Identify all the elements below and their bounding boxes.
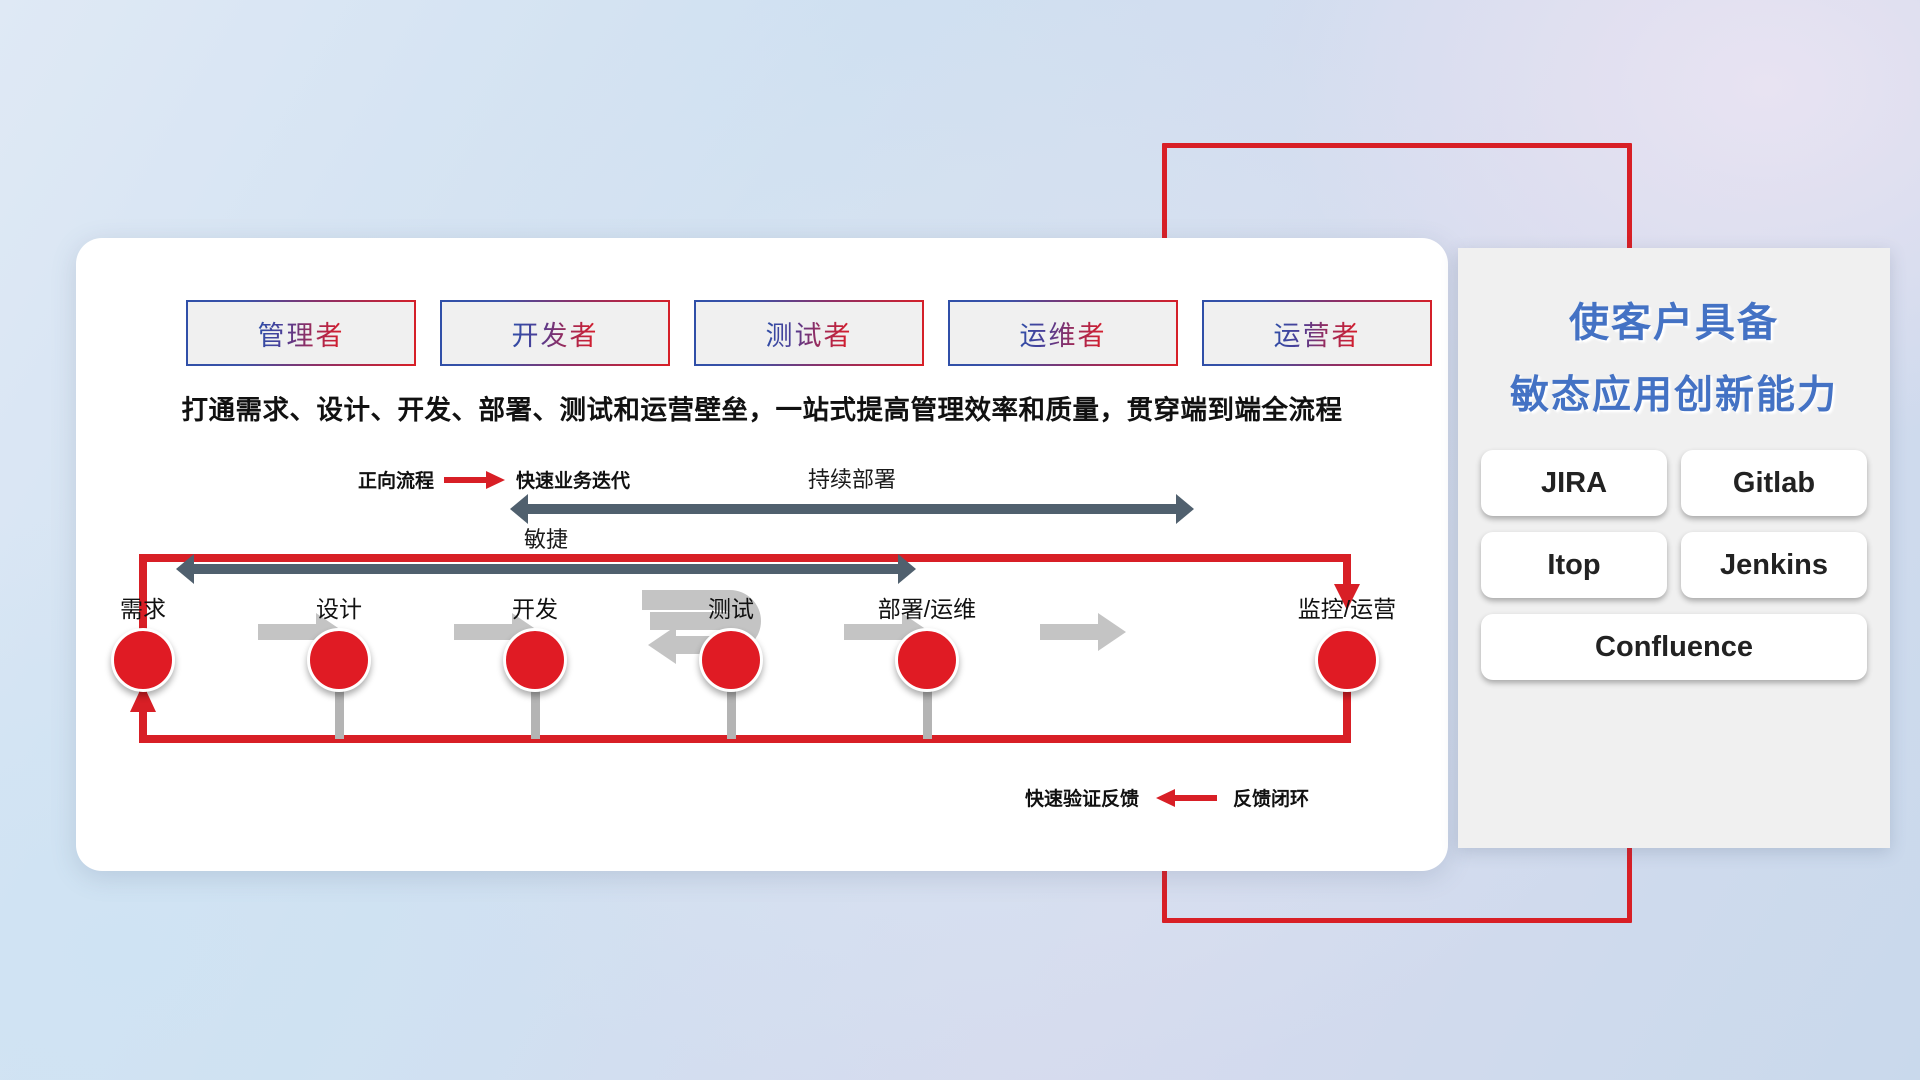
stage-development[interactable]: 开发	[460, 590, 610, 692]
role-box-ops[interactable]: 运维者	[948, 300, 1178, 366]
value-proposition-panel: 使客户具备 敏态应用创新能力 JIRA Gitlab Itop Jenkins …	[1458, 248, 1890, 848]
tool-chip-label: JIRA	[1541, 467, 1607, 500]
stage-node	[1315, 628, 1379, 692]
tool-chip-jira[interactable]: JIRA	[1481, 450, 1667, 516]
stage-requirements[interactable]: 需求	[68, 590, 218, 692]
tool-chip-label: Confluence	[1595, 631, 1753, 664]
stage-node	[503, 628, 567, 692]
stage-label: 部署/运维	[852, 590, 1002, 624]
tool-chip-list: JIRA Gitlab Itop Jenkins Confluence	[1458, 450, 1890, 680]
role-box-operations-inner: 运营者	[1204, 302, 1430, 364]
role-box-tester[interactable]: 测试者	[694, 300, 924, 366]
role-box-developer-inner: 开发者	[442, 302, 668, 364]
span-arrow-label-continuous-deploy: 持续部署	[510, 462, 1194, 494]
stage-label: 监控/运营	[1272, 590, 1422, 624]
stage-label: 开发	[460, 590, 610, 624]
stage-label: 测试	[656, 590, 806, 624]
tool-chip-jenkins[interactable]: Jenkins	[1681, 532, 1867, 598]
span-arrow-label-agile: 敏捷	[176, 522, 916, 554]
double-arrow-icon-continuous-deploy	[510, 494, 1194, 524]
role-box-row: 管理者 开发者 测试者 运维者 运营者	[186, 300, 1432, 366]
tool-chip-itop[interactable]: Itop	[1481, 532, 1667, 598]
role-label: 运维者	[1020, 314, 1107, 353]
stage-deploy-ops[interactable]: 部署/运维	[852, 590, 1002, 692]
tool-chip-confluence[interactable]: Confluence	[1481, 614, 1867, 680]
stage-node	[699, 628, 763, 692]
role-box-operations[interactable]: 运营者	[1202, 300, 1432, 366]
tool-chip-gitlab[interactable]: Gitlab	[1681, 450, 1867, 516]
role-box-tester-inner: 测试者	[696, 302, 922, 364]
main-content-card: 管理者 开发者 测试者 运维者 运营者	[76, 238, 1448, 871]
role-box-developer[interactable]: 开发者	[440, 300, 670, 366]
role-label: 开发者	[512, 314, 599, 353]
stage-label: 设计	[264, 590, 414, 624]
stage-label: 需求	[68, 590, 218, 624]
tool-chip-label: Gitlab	[1733, 467, 1815, 500]
panel-title-line1: 使客户具备	[1458, 290, 1890, 348]
role-box-manager-inner: 管理者	[188, 302, 414, 364]
stage-node	[307, 628, 371, 692]
slide-canvas: 管理者 开发者 测试者 运维者 运营者	[0, 0, 1920, 1080]
stage-design[interactable]: 设计	[264, 590, 414, 692]
panel-title-line2: 敏态应用创新能力	[1458, 364, 1890, 420]
role-box-ops-inner: 运维者	[950, 302, 1176, 364]
tool-chip-label: Itop	[1547, 549, 1600, 582]
role-label: 运营者	[1274, 314, 1361, 353]
role-label: 测试者	[766, 314, 853, 353]
role-box-manager[interactable]: 管理者	[186, 300, 416, 366]
role-label: 管理者	[258, 314, 345, 353]
stage-node	[111, 628, 175, 692]
stage-node	[895, 628, 959, 692]
tool-chip-label: Jenkins	[1720, 549, 1828, 582]
stage-testing[interactable]: 测试	[656, 590, 806, 692]
stage-monitor-operations[interactable]: 监控/运营	[1272, 590, 1422, 692]
